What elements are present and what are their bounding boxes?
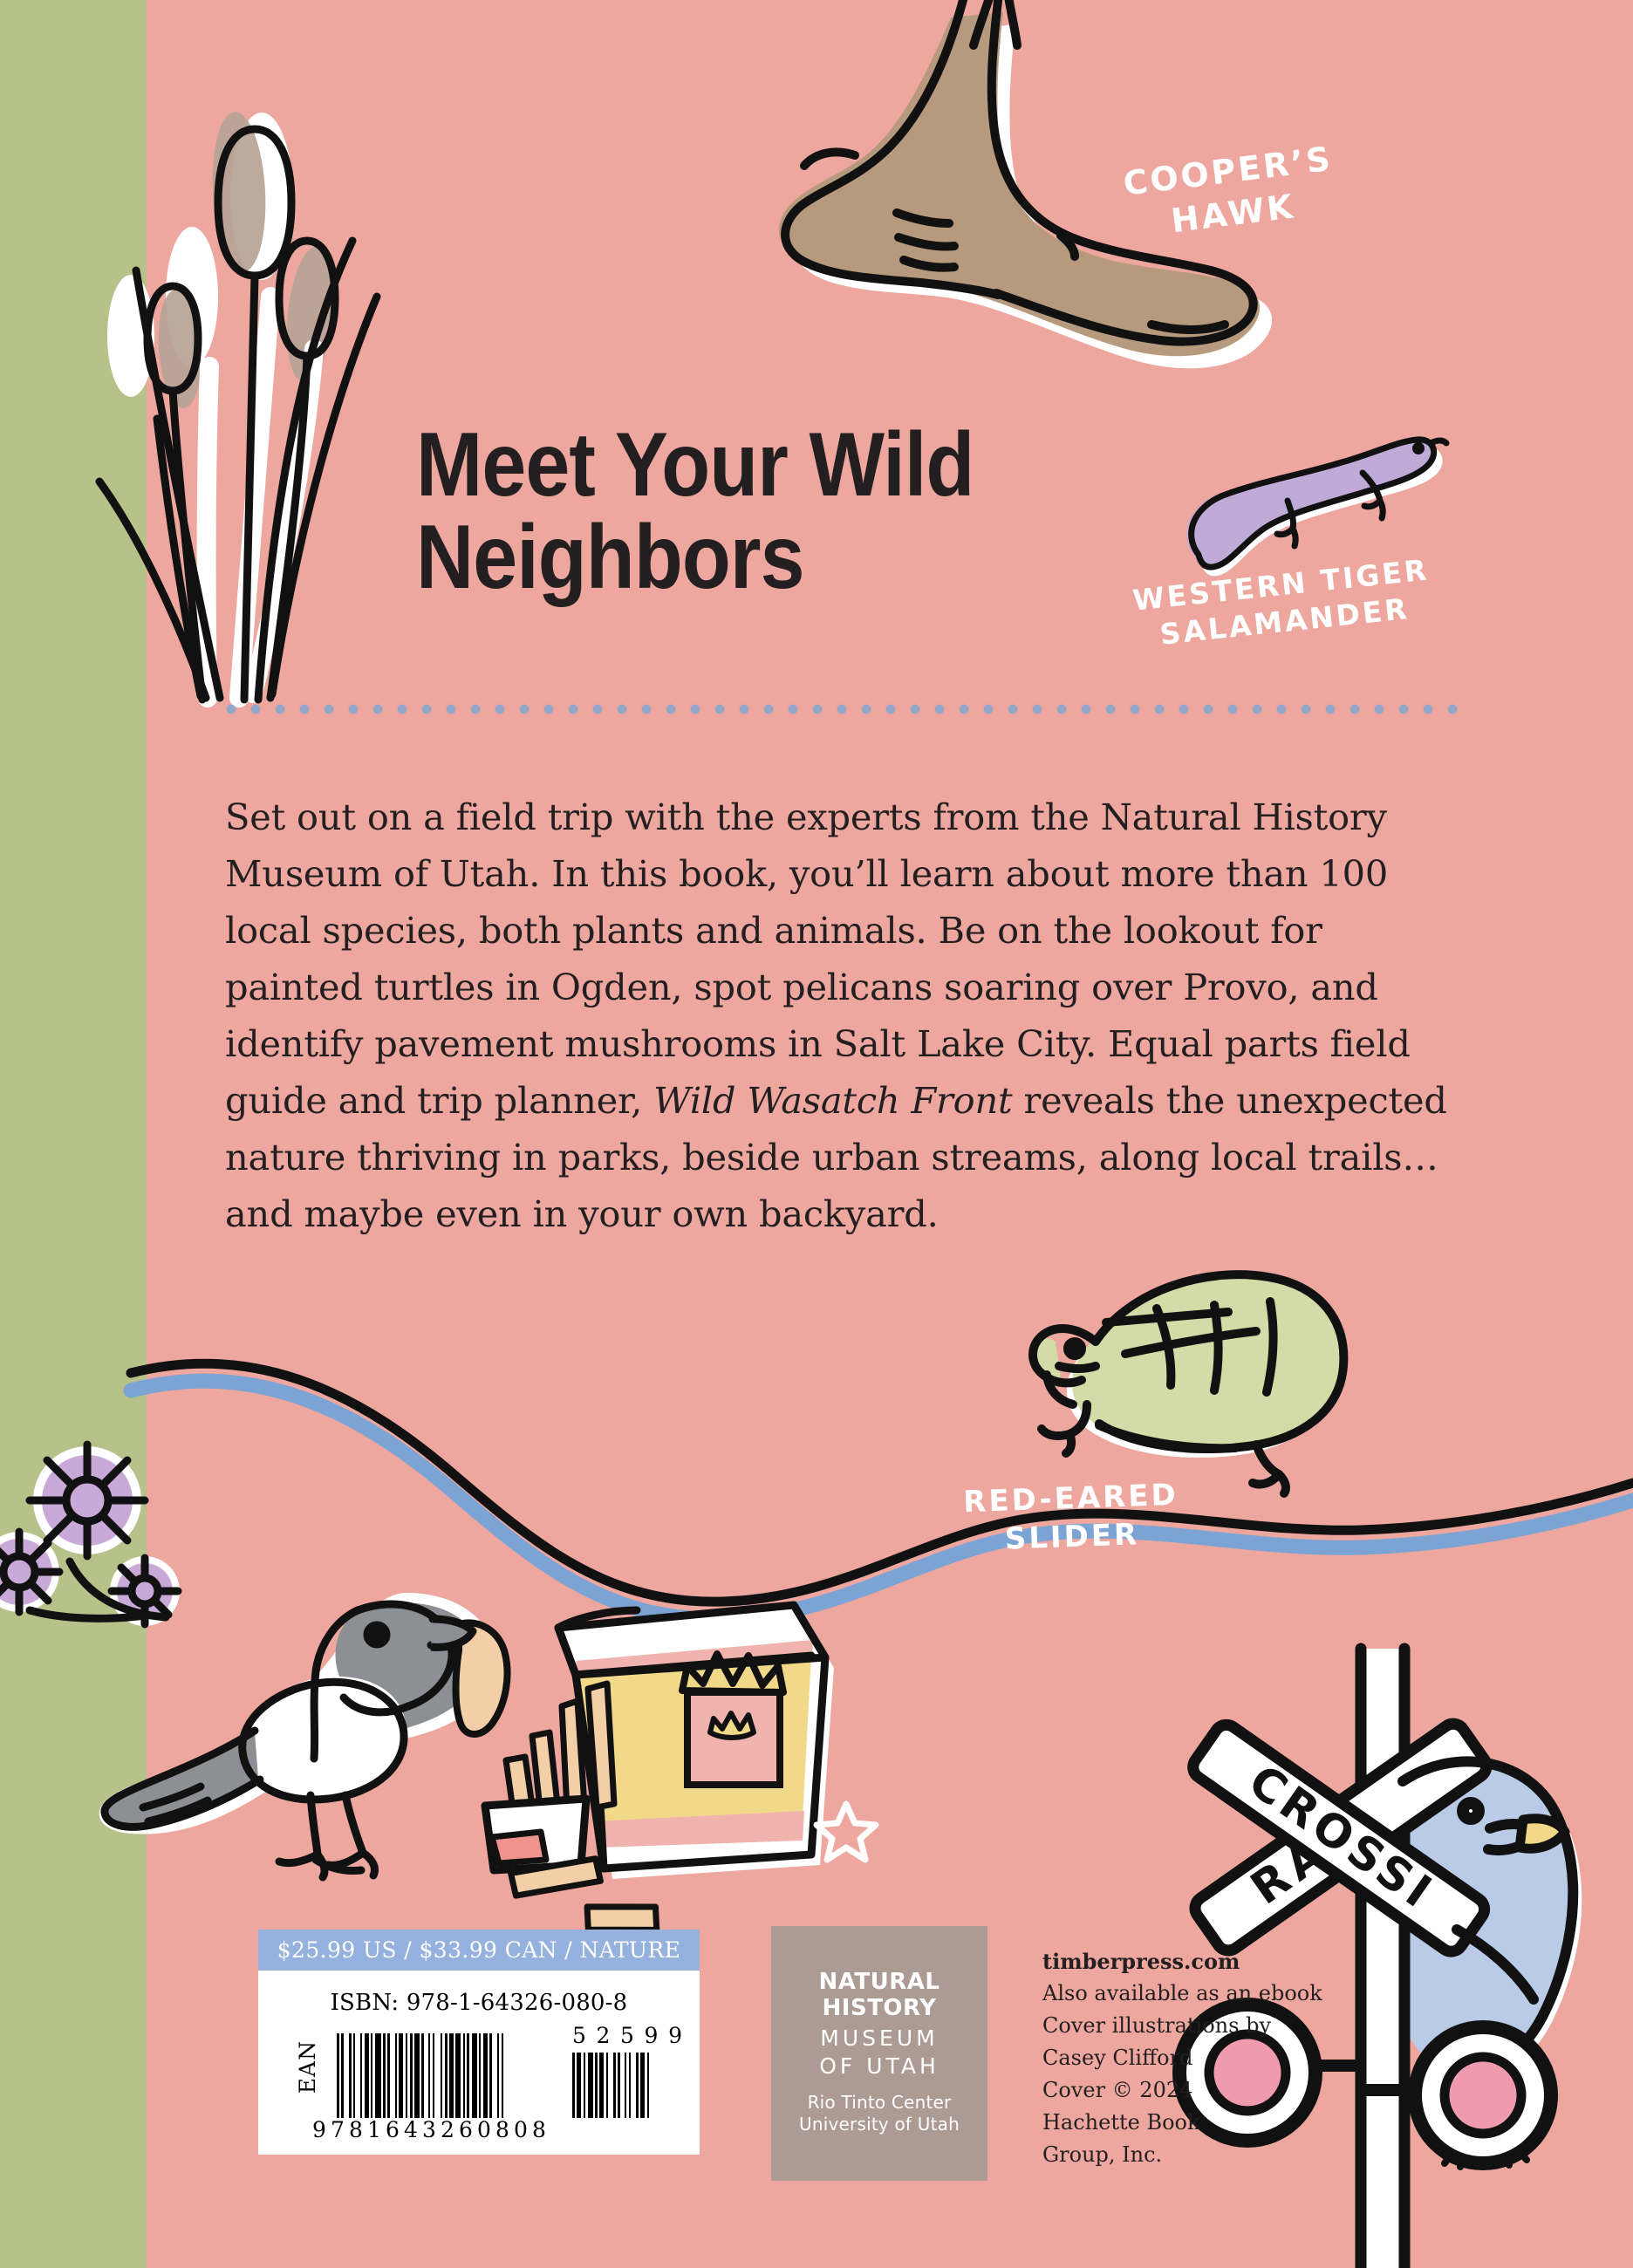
barcode-digit: 8 bbox=[349, 2117, 363, 2142]
price-band-text: $25.99 US / $33.99 CAN / NATURE bbox=[277, 1937, 681, 1963]
barcode-digit: 2 bbox=[597, 2023, 611, 2048]
barcode-digit: 5 bbox=[572, 2023, 586, 2048]
barcode-digit: 7 bbox=[331, 2117, 345, 2142]
barcode-digit: 0 bbox=[477, 2117, 491, 2142]
barcode-digit: 1 bbox=[367, 2117, 381, 2142]
addon-barcode-bars bbox=[572, 2053, 652, 2118]
publisher-credits: timberpress.com Also available as an ebo… bbox=[1042, 1945, 1330, 2171]
french-fry-carton-illustration bbox=[523, 1544, 872, 1910]
title-line-1: Meet Your Wild bbox=[416, 419, 1030, 511]
book-back-cover: COOPER’S HAWK WESTERN TIGER SALAMANDER bbox=[0, 0, 1633, 2268]
museum-line-6: University of Utah bbox=[771, 2114, 987, 2135]
dotted-divider bbox=[225, 703, 1464, 715]
red-eared-slider-illustration bbox=[994, 1239, 1361, 1500]
barcode-digit: 8 bbox=[532, 2117, 546, 2142]
barcode-digit: 5 bbox=[620, 2023, 634, 2048]
barcode-digit: 9 bbox=[668, 2023, 682, 2048]
star-doodle-icon bbox=[811, 1797, 881, 1867]
addon-digits: 52599 bbox=[572, 2023, 682, 2048]
museum-line-4: OF UTAH bbox=[771, 2053, 987, 2080]
ean-label: EAN bbox=[295, 2040, 320, 2094]
credits-line-6: Group, Inc. bbox=[1042, 2139, 1330, 2171]
page-title: Meet Your Wild Neighbors bbox=[416, 419, 1030, 604]
title-line-2: Neighbors bbox=[416, 511, 1030, 604]
back-cover-blurb: Set out on a field trip with the experts… bbox=[225, 789, 1464, 1242]
museum-logo: NATURAL HISTORY MUSEUM OF UTAH Rio Tinto… bbox=[771, 1926, 987, 2181]
barcode-digit: 8 bbox=[495, 2117, 509, 2142]
slider-callout-label: RED-EARED SLIDER bbox=[963, 1477, 1180, 1561]
hawk-callout-label: COOPER’S HAWK bbox=[1121, 138, 1340, 248]
svg-text:CROSSI: CROSSI bbox=[1239, 1755, 1444, 1920]
price-band: $25.99 US / $33.99 CAN / NATURE bbox=[258, 1930, 700, 1971]
museum-line-3: MUSEUM bbox=[771, 2025, 987, 2053]
credits-line-2: Cover illustrations by bbox=[1042, 2010, 1330, 2042]
museum-line-2: HISTORY bbox=[771, 1996, 987, 2022]
blurb-part-1: Set out on a field trip with the experts… bbox=[225, 796, 1411, 1122]
credits-line-3: Casey Clifford bbox=[1042, 2042, 1330, 2074]
isbn-text: ISBN: 978-1-64326-080-8 bbox=[258, 1990, 700, 2016]
blurb-book-title: Wild Wasatch Front bbox=[653, 1079, 1012, 1122]
barcode-digit: 3 bbox=[422, 2117, 436, 2142]
stream-illustration bbox=[0, 1343, 1633, 1710]
barcode-digit: 4 bbox=[404, 2117, 418, 2142]
ean-digits: 9781643260808 bbox=[312, 2117, 546, 2142]
ean-barcode-bars bbox=[337, 2033, 506, 2118]
museum-line-1: NATURAL bbox=[771, 1970, 987, 1996]
spine-strip bbox=[0, 0, 147, 2268]
credits-line-5: Hachette Book bbox=[1042, 2107, 1330, 2139]
svg-text:RAIL: RAIL bbox=[1242, 1792, 1387, 1915]
barcode-block: ISBN: 978-1-64326-080-8 EAN 978164326080… bbox=[258, 1971, 700, 2155]
black-billed-magpie-illustration bbox=[96, 1561, 584, 1893]
publisher-website[interactable]: timberpress.com bbox=[1042, 1945, 1330, 1978]
barcode-digit: 2 bbox=[441, 2117, 454, 2142]
credits-line-4: Cover © 2024 bbox=[1042, 2074, 1330, 2107]
barcode-digit: 9 bbox=[645, 2023, 659, 2048]
credits-line-1: Also available as an ebook bbox=[1042, 1978, 1330, 2010]
barcode-digit: 6 bbox=[459, 2117, 473, 2142]
barcode-digit: 0 bbox=[514, 2117, 528, 2142]
barcode-digit: 6 bbox=[386, 2117, 400, 2142]
barcode-digit: 9 bbox=[312, 2117, 326, 2142]
museum-line-5: Rio Tinto Center bbox=[771, 2092, 987, 2113]
salamander-callout-label: WESTERN TIGER SALAMANDER bbox=[1131, 551, 1435, 656]
